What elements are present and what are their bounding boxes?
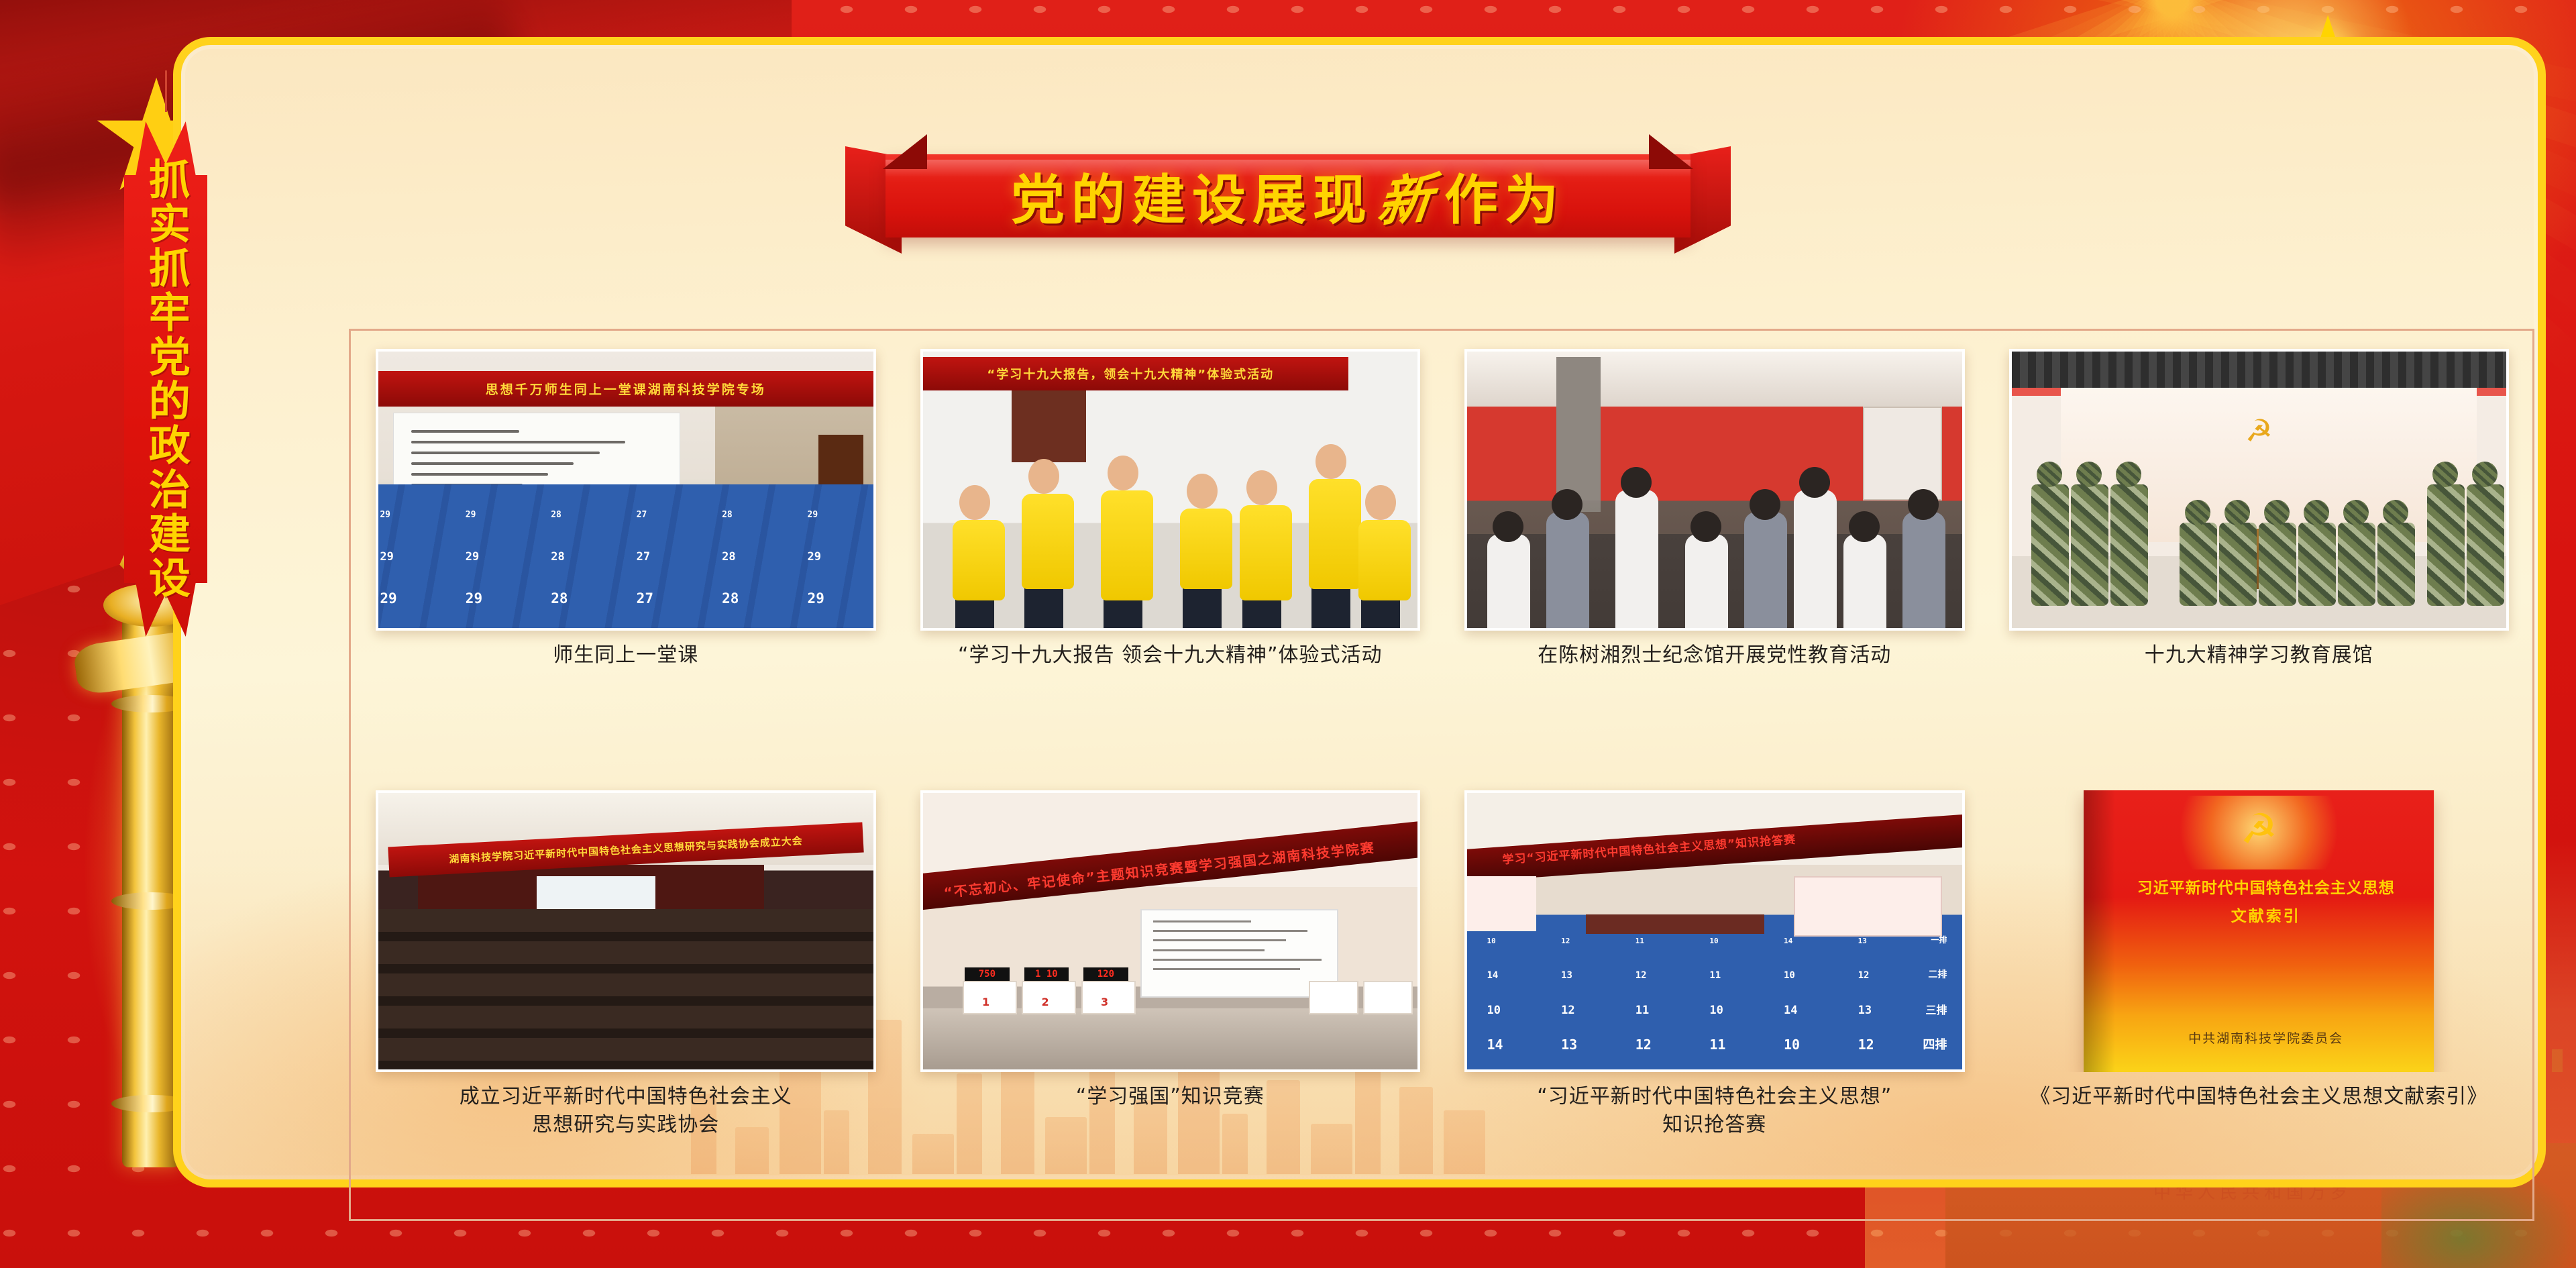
- book-cover-photo[interactable]: ☭ 习近平新时代中国特色社会主义思想 文献索引 中共湖南科技学院委员会: [2009, 790, 2510, 1072]
- gallery-item-8[interactable]: ☭ 习近平新时代中国特色社会主义思想 文献索引 中共湖南科技学院委员会 《习近平…: [2009, 790, 2510, 1208]
- gallery-item-6[interactable]: “不忘初心、牢记使命”主题知识竞赛暨学习强国之湖南科技学院赛 175021 10…: [920, 790, 1421, 1208]
- gallery-caption-4: 十九大精神学习教育展馆: [2145, 641, 2373, 670]
- team-building-photo[interactable]: “学习十九大报告，领会十九大精神”体验式活动: [920, 349, 1421, 631]
- party-emblem-icon: ☭: [2240, 804, 2277, 853]
- gallery-item-3[interactable]: 在陈树湘烈士纪念馆开展党性教育活动: [1464, 349, 1965, 766]
- quiz-screen-left: [1467, 876, 1536, 931]
- book-publisher: 中共湖南科技学院委员会: [2112, 1028, 2420, 1047]
- hall-pillar: [1556, 357, 1601, 512]
- page-title-after: 作为: [1444, 169, 1565, 231]
- photo-inner-banner-1: 思想千万师生同上一堂课湖南科技学院专场: [378, 371, 873, 407]
- judges-table: [1586, 914, 1764, 934]
- gallery-caption-5-line2: 思想研究与实践协会: [460, 1111, 792, 1139]
- quiz-auditorium-photo[interactable]: 学习“习近平新时代中国特色社会主义思想”知识抢答赛 14131211101210…: [1464, 790, 1965, 1072]
- gallery-caption-6: “学习强国”知识竞赛: [1076, 1083, 1265, 1111]
- gallery-caption-7: “习近平新时代中国特色社会主义思想” 知识抢答赛: [1537, 1083, 1892, 1139]
- photo-art-6: “不忘初心、牢记使命”主题知识竞赛暨学习强国之湖南科技学院赛 175021 10…: [923, 793, 1418, 1069]
- title-ribbon: 党的建设展现新作为: [845, 134, 1731, 242]
- hall-ceiling: [1467, 352, 1962, 407]
- room-door: [1012, 390, 1086, 462]
- ribbon-body: 党的建设展现新作为: [885, 154, 1690, 237]
- memorial-hall-visit-photo[interactable]: [1464, 349, 1965, 631]
- photo-art-8: ☭ 习近平新时代中国特色社会主义思想 文献索引 中共湖南科技学院委员会: [2084, 790, 2434, 1072]
- side-banner-text: 抓实抓牢党的政治建设: [124, 111, 207, 647]
- knowledge-contest-stage-photo[interactable]: “不忘初心、牢记使命”主题知识竞赛暨学习强国之湖南科技学院赛 175021 10…: [920, 790, 1421, 1072]
- seat-rows: [376, 909, 876, 1069]
- quiz-screen-right: [1794, 876, 1942, 937]
- side-banner: 抓实抓牢党的政治建设: [124, 111, 207, 647]
- gallery-item-7[interactable]: 学习“习近平新时代中国特色社会主义思想”知识抢答赛 14131211101210…: [1464, 790, 1965, 1208]
- photo-inner-banner-2: “学习十九大报告，领会十九大精神”体验式活动: [920, 357, 1348, 390]
- photo-art-3: [1467, 352, 1962, 628]
- ribbon-fold-left: [883, 134, 927, 169]
- book-spine: [2084, 790, 2115, 1072]
- gallery-item-4[interactable]: ☭ 十九大精神学习教育展馆: [2009, 349, 2510, 766]
- gallery-caption-1: 师生同上一堂课: [553, 641, 698, 670]
- exhibit-panel: [1863, 407, 1942, 500]
- gallery-caption-7-line1: “习近平新时代中国特色社会主义思想”: [1537, 1083, 1892, 1111]
- gallery-caption-5-line1: 成立习近平新时代中国特色社会主义: [460, 1083, 792, 1111]
- ceiling-grid: [2012, 352, 2507, 388]
- book-title-line2: 文献索引: [2112, 903, 2420, 926]
- audience-seats: 292928272829292928272829292928272829: [376, 484, 876, 628]
- party-emblem-icon: ☭: [2245, 413, 2273, 449]
- page-title: 党的建设展现新作为: [1011, 157, 1565, 235]
- gallery-caption-5: 成立习近平新时代中国特色社会主义 思想研究与实践协会: [460, 1083, 792, 1139]
- side-banner-string: [165, 70, 167, 112]
- lecture-hall-photo[interactable]: 292928272829292928272829292928272829 思想千…: [376, 349, 876, 631]
- page-title-before: 党的建设展现: [1011, 169, 1373, 231]
- gallery-item-1[interactable]: 292928272829292928272829292928272829 思想千…: [376, 349, 876, 766]
- page-title-emphasis: 新: [1374, 154, 1444, 238]
- contest-stage-floor: [923, 1008, 1418, 1069]
- photo-art-7: 学习“习近平新时代中国特色社会主义思想”知识抢答赛 14131211101210…: [1467, 793, 1962, 1069]
- exhibition-hall-group-photo[interactable]: ☭: [2009, 349, 2510, 631]
- gallery-caption-7-line2: 知识抢答赛: [1537, 1111, 1892, 1139]
- association-founding-meeting-photo[interactable]: 湖南科技学院习近平新时代中国特色社会主义思想研究与实践协会成立大会: [376, 790, 876, 1072]
- photo-art-4: ☭: [2012, 352, 2507, 628]
- book-title-line1: 习近平新时代中国特色社会主义思想: [2112, 875, 2420, 898]
- gallery-caption-2: “学习十九大报告 领会十九大精神”体验式活动: [958, 641, 1383, 670]
- gallery-caption-3: 在陈树湘烈士纪念馆开展党性教育活动: [1538, 641, 1891, 670]
- gallery-grid: 292928272829292928272829292928272829 思想千…: [376, 349, 2509, 1208]
- gallery-item-2[interactable]: “学习十九大报告，领会十九大精神”体验式活动 “学习十九大报告 领会十九大精神”…: [920, 349, 1421, 766]
- photo-art-2: [923, 352, 1418, 628]
- gallery-item-5[interactable]: 湖南科技学院习近平新时代中国特色社会主义思想研究与实践协会成立大会 成立习近平新…: [376, 790, 876, 1208]
- gallery-caption-8: 《习近平新时代中国特色社会主义思想文献索引》: [2030, 1083, 2487, 1111]
